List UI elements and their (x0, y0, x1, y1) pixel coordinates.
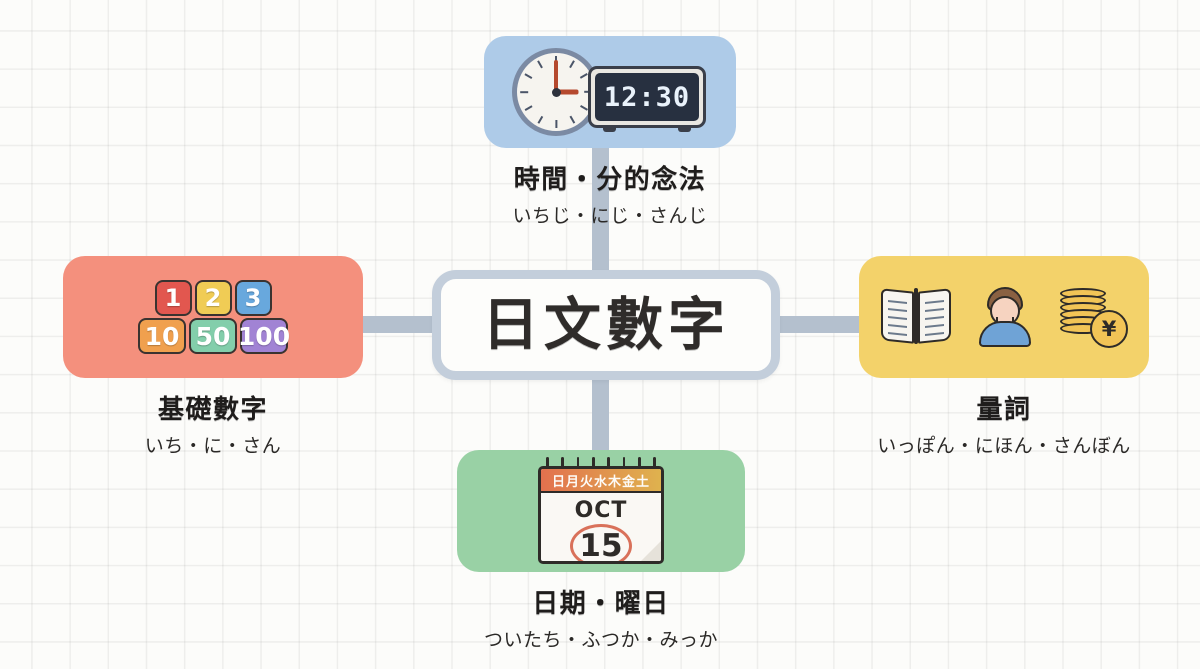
time-title: 時間・分的念法 (460, 159, 760, 196)
digital-clock-display: 12:30 (595, 73, 699, 121)
calendar-page-fold (641, 541, 661, 561)
number-blocks-row-bottom: 10 50 100 (138, 318, 288, 354)
time-card: 12:30 (484, 36, 736, 148)
clock-icon-group: 12:30 (504, 44, 716, 140)
digital-clock-icon: 12:30 (588, 66, 706, 128)
numbers-card: 1 2 3 10 50 100 (63, 256, 363, 378)
counters-subtitle: いっぽん・にほん・さんぼん (858, 431, 1150, 458)
clock-pivot (552, 88, 561, 97)
number-blocks-icon: 1 2 3 10 50 100 (138, 280, 288, 354)
calendar-body: 日月火水木金土 OCT 15 (538, 466, 664, 564)
counters-card: ¥ (859, 256, 1149, 378)
numbers-title: 基礎數字 (58, 389, 368, 426)
counters-icon-group: ¥ (880, 286, 1128, 348)
calendar-month: OCT (541, 498, 661, 523)
time-subtitle: いちじ・にじ・さんじ (460, 201, 760, 228)
dates-title: 日期・曜日 (455, 583, 747, 620)
calendar-day: 15 (570, 524, 632, 564)
analog-clock-icon (512, 48, 600, 136)
calendar-weekdays: 日月火水木金土 (541, 469, 661, 493)
counters-title: 量詞 (858, 389, 1150, 426)
numbers-subtitle: いち・に・さん (58, 431, 368, 458)
number-block-10: 10 (138, 318, 186, 354)
person-icon (974, 287, 1036, 347)
number-block-3: 3 (235, 280, 272, 316)
connector-center-to-counters (766, 316, 866, 333)
branch-node-time[interactable]: 12:30 時間・分的念法 いちじ・にじ・さんじ (460, 36, 760, 228)
number-block-1: 1 (155, 280, 192, 316)
coins-icon: ¥ (1058, 286, 1128, 348)
branch-node-numbers[interactable]: 1 2 3 10 50 100 基礎數字 いち・に・さん (58, 256, 368, 458)
number-block-50: 50 (189, 318, 237, 354)
dates-subtitle: ついたち・ふつか・みっか (455, 625, 747, 652)
center-node-title: 日文數字 (482, 297, 730, 354)
number-block-100: 100 (240, 318, 288, 354)
book-icon (880, 288, 952, 346)
branch-node-dates[interactable]: 日月火水木金土 OCT 15 日期・曜日 ついたち・ふつか・みっか (455, 450, 747, 652)
calendar-icon: 日月火水木金土 OCT 15 (538, 457, 664, 565)
yen-coin-icon: ¥ (1090, 310, 1128, 348)
center-node[interactable]: 日文數字 (432, 270, 780, 380)
number-blocks-row-top: 1 2 3 (155, 280, 272, 316)
mindmap-canvas: 日文數字 (0, 0, 1200, 669)
number-block-2: 2 (195, 280, 232, 316)
branch-node-counters[interactable]: ¥ 量詞 いっぽん・にほん・さんぼん (858, 256, 1150, 458)
dates-card: 日月火水木金土 OCT 15 (457, 450, 745, 572)
